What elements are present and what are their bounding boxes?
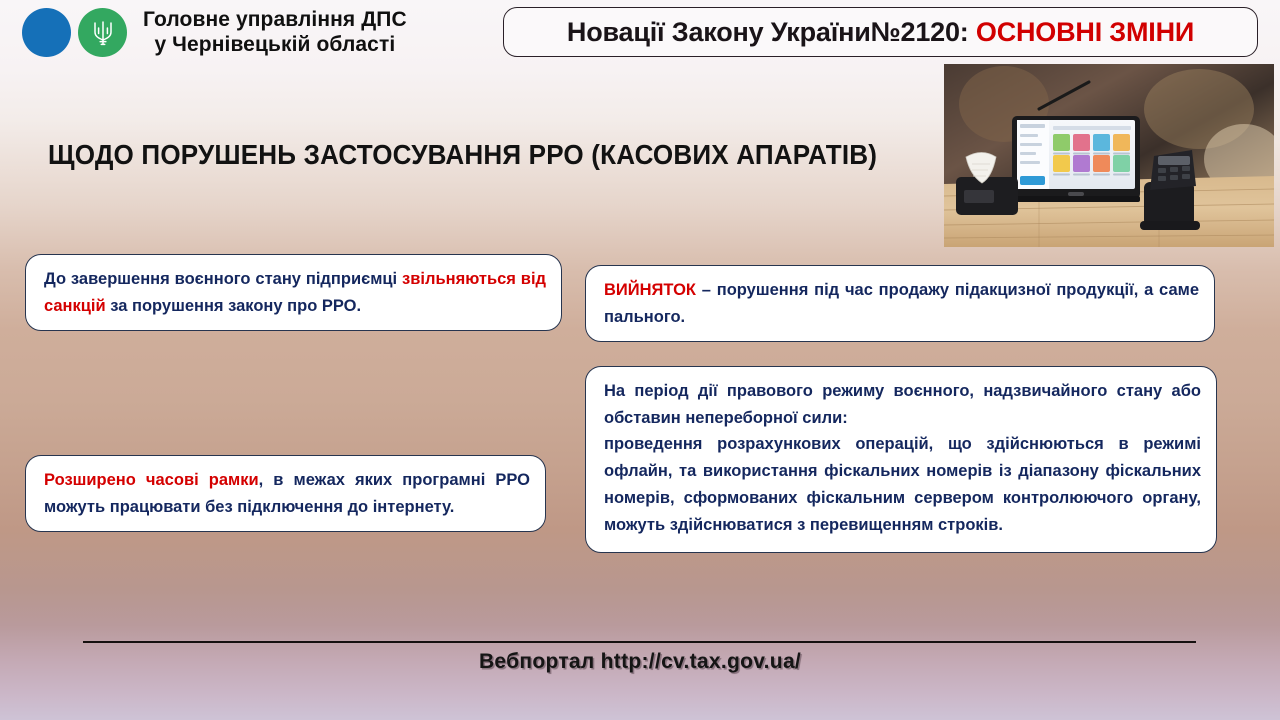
organization-name: Головне управління ДПС у Чернівецькій об… [143, 8, 407, 57]
pos-terminal-photo [944, 64, 1274, 247]
section-heading: ЩОДО ПОРУШЕНЬ ЗАСТОСУВАННЯ РРО (КАСОВИХ … [48, 139, 877, 171]
page-title-main: Новації Закону України№2120: [567, 17, 976, 47]
card-3-text-intro: На період дії правового режиму воєнного,… [604, 378, 1201, 431]
card-1-text: До завершення воєнного стану підприємці … [44, 266, 546, 319]
page-title-plate: Новації Закону України№2120: ОСНОВНІ ЗМІ… [503, 7, 1258, 57]
page-header: Головне управління ДПС у Чернівецькій об… [0, 0, 1280, 62]
card-exception-excise: ВИЙНЯТОК – порушення під час продажу під… [585, 265, 1215, 342]
card-offline-mode-rules: На період дії правового режиму воєнного,… [585, 366, 1217, 553]
card-4-text: Розширено часові рамки, в межах яких про… [44, 467, 530, 520]
logo-blue-circle-icon [22, 8, 71, 57]
card-extended-timeframes: Розширено часові рамки, в межах яких про… [25, 455, 546, 532]
pos-terminal-illustration [944, 64, 1274, 247]
highlight-text: ВИЙНЯТОК [604, 281, 696, 299]
logo-green-circle-icon [78, 8, 127, 57]
card-3-text-body: проведення розрахункових операцій, що зд… [604, 431, 1201, 538]
card-2-text: ВИЙНЯТОК – порушення під час продажу під… [604, 277, 1199, 330]
footer-divider [83, 641, 1196, 643]
organization-logo: Головне управління ДПС у Чернівецькій об… [22, 8, 407, 57]
ukraine-trident-icon [92, 19, 114, 47]
card-war-time-exemption: До завершення воєнного стану підприємці … [25, 254, 562, 331]
highlight-text: Розширено часові рамки [44, 471, 259, 489]
page-title-accent: ОСНОВНІ ЗМІНИ [976, 17, 1194, 47]
page-title: Новації Закону України№2120: ОСНОВНІ ЗМІ… [567, 17, 1194, 48]
footer-webportal-label: Вебпортал http://cv.tax.gov.ua/ [0, 650, 1280, 674]
